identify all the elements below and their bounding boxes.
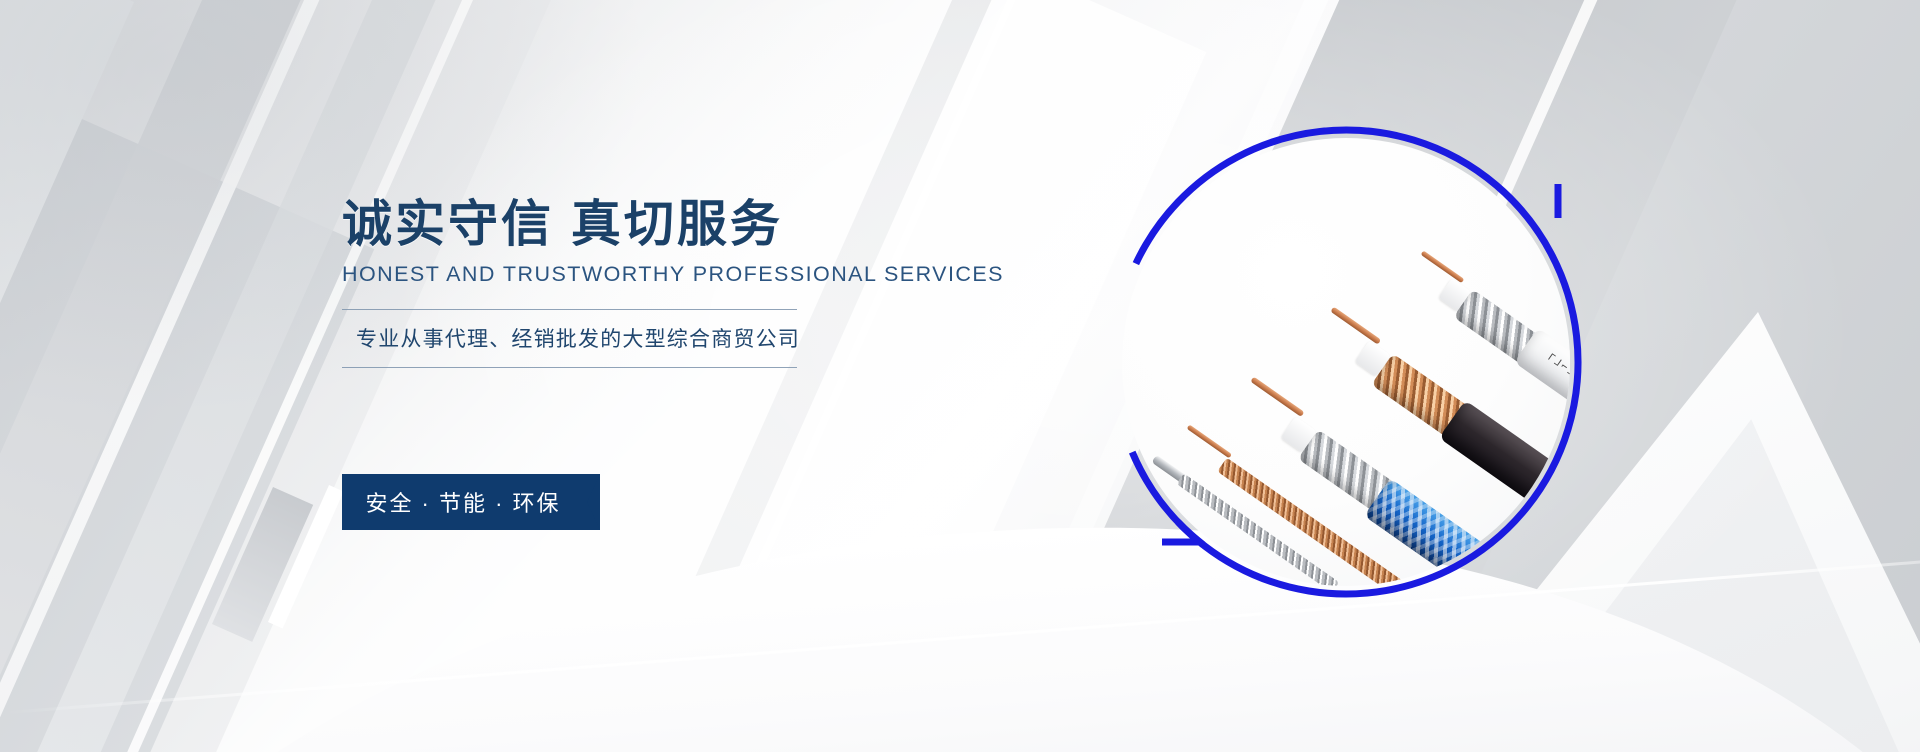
divider-bottom [342,367,797,368]
feature-tag-label: 安全 · 节能 · 环保 [365,486,560,518]
divider-top [342,309,797,310]
feature-tag: 安全 · 节能 · 环保 [342,474,600,530]
feature-tag-body: 安全 · 节能 · 环保 [342,474,600,530]
banner-description: 专业从事代理、经销批发的大型综合商贸公司 [356,323,862,353]
product-medallion: ᒥᒧ⌐ᒧ [1112,128,1580,596]
medallion-ring-icon [1106,122,1586,602]
background-geometry [0,0,1920,752]
banner-subheadline: HONEST AND TRUSTWORTHY PROFESSIONAL SERV… [342,262,862,287]
banner-headline: 诚实守信 真切服务 [342,196,862,252]
hero-banner: 诚实守信 真切服务 HONEST AND TRUSTWORTHY PROFESS… [0,0,1920,752]
banner-copy: 诚实守信 真切服务 HONEST AND TRUSTWORTHY PROFESS… [342,196,862,368]
